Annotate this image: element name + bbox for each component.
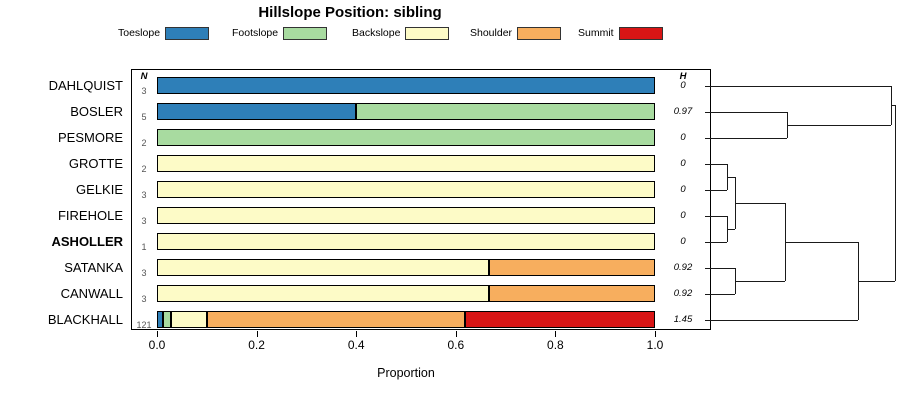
dendrogram-branch — [705, 242, 727, 243]
y-axis-label-canwall: CANWALL — [61, 286, 123, 302]
bar-row — [157, 77, 655, 94]
h-value-firehole: 0 — [655, 211, 711, 221]
dendrogram-branch — [785, 242, 858, 243]
bar-segment-summit — [465, 311, 655, 328]
legend-swatch — [517, 27, 561, 40]
dendrogram-branch — [705, 294, 735, 295]
dendrogram-branch — [858, 281, 895, 282]
y-axis-label-bosler: BOSLER — [70, 104, 123, 120]
dendrogram-branch — [705, 86, 891, 87]
legend-label: Toeslope — [118, 27, 160, 39]
y-axis-label-dahlquist: DAHLQUIST — [49, 78, 123, 94]
legend-item-footslope: Footslope — [232, 25, 327, 41]
dendrogram-branch — [787, 125, 891, 126]
legend-label: Shoulder — [470, 27, 512, 39]
n-value-blackhall: 121 — [131, 320, 157, 330]
legend: ToeslopeFootslopeBackslopeShoulderSummit — [0, 25, 700, 41]
dendrogram-branch — [705, 164, 727, 165]
dendrogram-branch — [705, 190, 727, 191]
legend-item-shoulder: Shoulder — [470, 25, 561, 41]
bar-row — [157, 207, 655, 224]
chart-root: Hillslope Position: sibling ToeslopeFoot… — [0, 0, 900, 400]
bar-segment-toeslope — [157, 103, 356, 120]
n-column-header: N — [131, 71, 157, 82]
n-value-grotte: 2 — [131, 164, 157, 174]
x-tick — [356, 331, 357, 337]
bar-row — [157, 233, 655, 250]
bar-segment-footslope — [157, 129, 655, 146]
y-axis-label-gelkie: GELKIE — [76, 182, 123, 198]
y-axis-labels: DAHLQUISTBOSLERPESMOREGROTTEGELKIEFIREHO… — [0, 69, 127, 330]
dendrogram-branch — [705, 268, 735, 269]
x-tick-label: 0.8 — [547, 338, 564, 352]
dendrogram-branch — [727, 177, 735, 178]
bar-segment-backslope — [157, 181, 655, 198]
bar-row — [157, 129, 655, 146]
bar-row — [157, 311, 655, 328]
legend-label: Summit — [578, 27, 614, 39]
bar-row — [157, 103, 655, 120]
h-value-dahlquist: 0 — [655, 81, 711, 91]
legend-swatch — [405, 27, 449, 40]
dendrogram-branch — [705, 112, 787, 113]
x-tick-label: 0.6 — [447, 338, 464, 352]
n-value-satanka: 3 — [131, 268, 157, 278]
x-tick-label: 0.4 — [348, 338, 365, 352]
x-tick — [655, 331, 656, 337]
bar-segment-shoulder — [489, 285, 655, 302]
page-title: Hillslope Position: sibling — [0, 4, 700, 21]
x-axis: 0.00.20.40.60.81.0 — [157, 331, 655, 341]
dendrogram-branch — [705, 138, 787, 139]
x-tick — [555, 331, 556, 337]
legend-label: Backslope — [352, 27, 400, 39]
dendrogram-branch — [705, 320, 858, 321]
h-value-gelkie: 0 — [655, 185, 711, 195]
legend-swatch — [165, 27, 209, 40]
n-value-bosler: 5 — [131, 112, 157, 122]
y-axis-label-satanka: SATANKA — [64, 260, 123, 276]
bar-segment-backslope — [157, 233, 655, 250]
legend-swatch — [619, 27, 663, 40]
dendrogram-branch — [735, 203, 785, 204]
h-value-blackhall: 1.45 — [655, 315, 711, 325]
x-tick — [157, 331, 158, 337]
h-value-grotte: 0 — [655, 159, 711, 169]
y-axis-label-firehole: FIREHOLE — [58, 208, 123, 224]
bar-segment-backslope — [171, 311, 207, 328]
bar-segment-backslope — [157, 207, 655, 224]
n-value-asholler: 1 — [131, 242, 157, 252]
legend-item-backslope: Backslope — [352, 25, 449, 41]
stacked-bars — [157, 69, 655, 330]
y-axis-label-blackhall: BLACKHALL — [48, 312, 123, 328]
n-value-gelkie: 3 — [131, 190, 157, 200]
x-tick — [456, 331, 457, 337]
bar-segment-backslope — [157, 285, 489, 302]
dendrogram-branch — [895, 105, 896, 281]
h-value-pesmore: 0 — [655, 133, 711, 143]
legend-label: Footslope — [232, 27, 278, 39]
bar-row — [157, 285, 655, 302]
n-column: N352233133121 — [131, 69, 157, 330]
n-value-firehole: 3 — [131, 216, 157, 226]
n-value-canwall: 3 — [131, 294, 157, 304]
bar-segment-backslope — [157, 155, 655, 172]
bar-row — [157, 155, 655, 172]
x-tick-label: 0.2 — [248, 338, 265, 352]
dendrogram — [705, 69, 895, 330]
bar-segment-footslope — [356, 103, 655, 120]
x-axis-title: Proportion — [157, 366, 655, 380]
legend-item-toeslope: Toeslope — [118, 25, 209, 41]
h-value-canwall: 0.92 — [655, 289, 711, 299]
dendrogram-branch — [727, 229, 735, 230]
h-column: H00.97000000.920.921.45 — [655, 69, 711, 330]
n-value-dahlquist: 3 — [131, 86, 157, 96]
h-value-satanka: 0.92 — [655, 263, 711, 273]
bar-segment-shoulder — [207, 311, 464, 328]
h-value-bosler: 0.97 — [655, 107, 711, 117]
legend-swatch — [283, 27, 327, 40]
h-value-asholler: 0 — [655, 237, 711, 247]
bar-row — [157, 181, 655, 198]
y-axis-label-asholler: ASHOLLER — [52, 234, 124, 250]
x-tick — [257, 331, 258, 337]
legend-item-summit: Summit — [578, 25, 663, 41]
x-tick-label: 1.0 — [647, 338, 664, 352]
y-axis-label-grotte: GROTTE — [69, 156, 123, 172]
bar-segment-backslope — [157, 259, 489, 276]
y-axis-label-pesmore: PESMORE — [58, 130, 123, 146]
dendrogram-branch — [705, 216, 727, 217]
dendrogram-branch — [735, 281, 785, 282]
bar-row — [157, 259, 655, 276]
n-value-pesmore: 2 — [131, 138, 157, 148]
bar-segment-footslope — [163, 311, 171, 328]
bar-segment-shoulder — [489, 259, 655, 276]
bar-segment-toeslope — [157, 77, 655, 94]
x-tick-label: 0.0 — [149, 338, 166, 352]
